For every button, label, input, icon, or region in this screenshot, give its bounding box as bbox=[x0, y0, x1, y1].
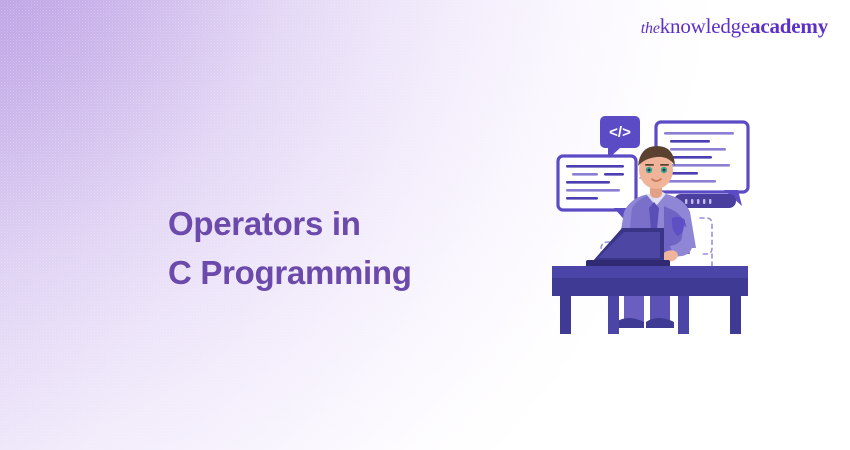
page-title-line-1: Operators in bbox=[168, 200, 412, 249]
code-badge-text: </> bbox=[609, 124, 631, 141]
banner: theknowledgeacademy Operators in C Progr… bbox=[0, 0, 850, 450]
logo-word-the: the bbox=[641, 20, 660, 37]
page-title: Operators in C Programming bbox=[168, 200, 412, 298]
logo-word-academy: academy bbox=[750, 14, 828, 38]
code-badge-bubble: </> bbox=[600, 116, 640, 159]
brand-logo[interactable]: theknowledgeacademy bbox=[641, 16, 828, 37]
logo-word-knowledge: knowledge bbox=[660, 14, 750, 38]
page-title-line-2: C Programming bbox=[168, 249, 412, 298]
laptop bbox=[586, 228, 670, 268]
hero-illustration: </> bbox=[546, 96, 760, 336]
